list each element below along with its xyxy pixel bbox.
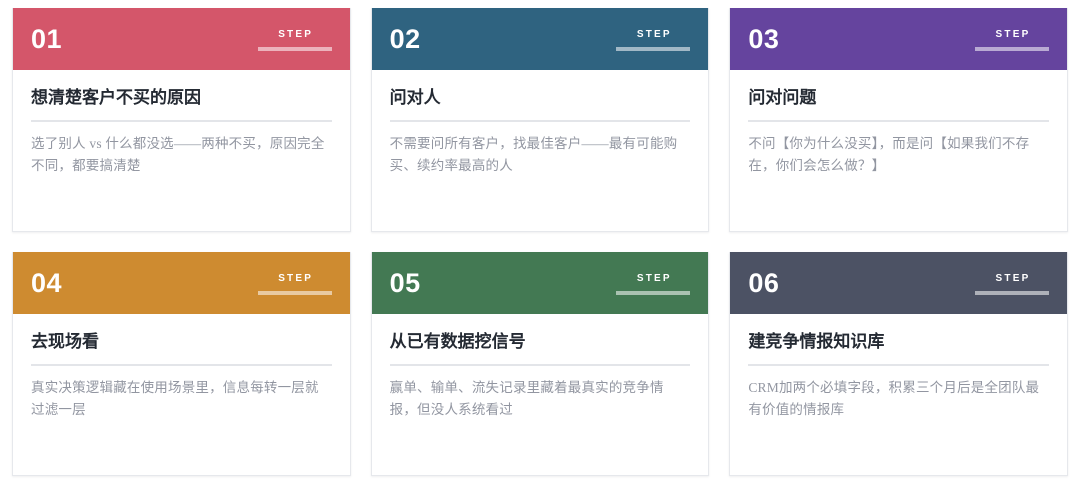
step-tag: STEP [975, 272, 1049, 295]
step-card-body: 建竞争情报知识库CRM加两个必填字段，积累三个月后是全团队最有价值的情报库 [730, 314, 1067, 475]
step-tag-label: STEP [975, 30, 1049, 40]
step-tag-rule-icon [616, 291, 690, 295]
step-tag-rule-icon [975, 291, 1049, 295]
step-card-body: 从已有数据挖信号赢单、输单、流失记录里藏着最真实的竞争情报，但没人系统看过 [372, 314, 709, 475]
step-number: 03 [748, 26, 779, 53]
step-card-divider [390, 120, 691, 122]
step-card-header: 06STEP [730, 252, 1067, 314]
step-tag-label: STEP [616, 274, 690, 284]
step-card-body: 问对问题不问【你为什么没买】，而是问【如果我们不存在，你们会怎么做？】 [730, 70, 1067, 231]
step-card[interactable]: 03STEP问对问题不问【你为什么没买】，而是问【如果我们不存在，你们会怎么做？… [729, 8, 1068, 232]
step-card-title: 从已有数据挖信号 [390, 331, 691, 352]
step-card-title: 想清楚客户不买的原因 [31, 87, 332, 108]
step-number: 02 [390, 26, 421, 53]
step-card-description: 真实决策逻辑藏在使用场景里，信息每转一层就过滤一层 [31, 377, 332, 421]
step-card-divider [748, 120, 1049, 122]
step-card-divider [390, 364, 691, 366]
step-card-title: 问对人 [390, 87, 691, 108]
step-tag: STEP [616, 28, 690, 51]
step-tag: STEP [975, 28, 1049, 51]
step-card-title: 建竞争情报知识库 [748, 331, 1049, 352]
step-tag: STEP [616, 272, 690, 295]
step-card-divider [748, 364, 1049, 366]
step-card-header: 01STEP [13, 8, 350, 70]
step-tag: STEP [258, 272, 332, 295]
step-card-body: 想清楚客户不买的原因选了别人 vs 什么都没选——两种不买，原因完全不同，都要搞… [13, 70, 350, 231]
step-card-header: 02STEP [372, 8, 709, 70]
step-card-description: 不问【你为什么没买】，而是问【如果我们不存在，你们会怎么做？】 [748, 133, 1049, 177]
step-card[interactable]: 01STEP想清楚客户不买的原因选了别人 vs 什么都没选——两种不买，原因完全… [12, 8, 351, 232]
step-number: 01 [31, 26, 62, 53]
step-tag-label: STEP [258, 30, 332, 40]
step-number: 04 [31, 270, 62, 297]
step-card-body: 问对人不需要问所有客户，找最佳客户——最有可能购买、续约率最高的人 [372, 70, 709, 231]
step-tag-label: STEP [616, 30, 690, 40]
step-tag: STEP [258, 28, 332, 51]
step-tag-rule-icon [616, 47, 690, 51]
step-card-grid: 01STEP想清楚客户不买的原因选了别人 vs 什么都没选——两种不买，原因完全… [0, 0, 1080, 490]
step-card-body: 去现场看真实决策逻辑藏在使用场景里，信息每转一层就过滤一层 [13, 314, 350, 475]
step-tag-rule-icon [258, 291, 332, 295]
step-card-divider [31, 364, 332, 366]
step-tag-rule-icon [258, 47, 332, 51]
step-card-description: 选了别人 vs 什么都没选——两种不买，原因完全不同，都要搞清楚 [31, 133, 332, 177]
step-card-description: 赢单、输单、流失记录里藏着最真实的竞争情报，但没人系统看过 [390, 377, 691, 421]
step-card-title: 去现场看 [31, 331, 332, 352]
step-card[interactable]: 02STEP问对人不需要问所有客户，找最佳客户——最有可能购买、续约率最高的人 [371, 8, 710, 232]
step-card-title: 问对问题 [748, 87, 1049, 108]
step-card-header: 04STEP [13, 252, 350, 314]
step-number: 06 [748, 270, 779, 297]
step-card[interactable]: 05STEP从已有数据挖信号赢单、输单、流失记录里藏着最真实的竞争情报，但没人系… [371, 252, 710, 476]
step-card-divider [31, 120, 332, 122]
step-tag-rule-icon [975, 47, 1049, 51]
step-card-description: CRM加两个必填字段，积累三个月后是全团队最有价值的情报库 [748, 377, 1049, 421]
step-tag-label: STEP [975, 274, 1049, 284]
step-card[interactable]: 04STEP去现场看真实决策逻辑藏在使用场景里，信息每转一层就过滤一层 [12, 252, 351, 476]
step-card-description: 不需要问所有客户，找最佳客户——最有可能购买、续约率最高的人 [390, 133, 691, 177]
step-tag-label: STEP [258, 274, 332, 284]
step-card-header: 05STEP [372, 252, 709, 314]
step-number: 05 [390, 270, 421, 297]
step-card[interactable]: 06STEP建竞争情报知识库CRM加两个必填字段，积累三个月后是全团队最有价值的… [729, 252, 1068, 476]
step-card-header: 03STEP [730, 8, 1067, 70]
